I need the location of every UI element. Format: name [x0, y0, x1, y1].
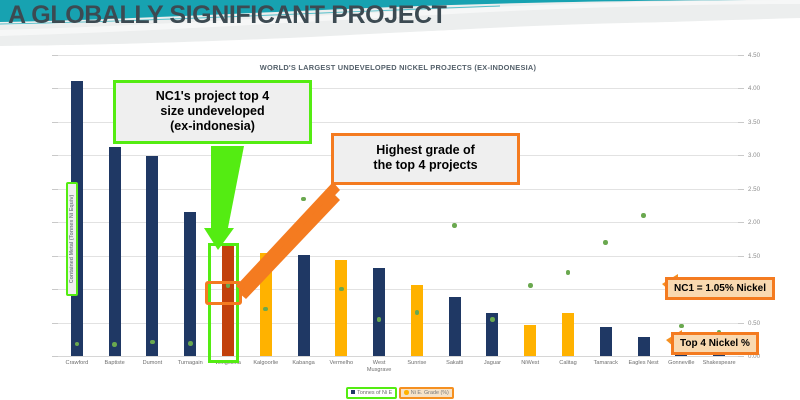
grade-callout-line-1: Highest grade of: [336, 143, 515, 158]
chart-legend: Tonnes of Ni ENi E. Grade (%): [0, 384, 800, 400]
legend-label: Ni E. Grade (%): [411, 390, 449, 396]
y2-tick-label: 2.00: [748, 219, 760, 226]
x-label-sunrise: Sunrise: [398, 360, 436, 367]
grade-dot-tamarack[interactable]: [603, 240, 608, 245]
wingellina-grade-highlight: [205, 281, 242, 305]
slide-canvas: A GLOBALLY SIGNIFICANT PROJECT WORLD'S L…: [0, 0, 800, 400]
bar-niwest[interactable]: [524, 325, 536, 356]
legend-square-icon: [351, 390, 355, 394]
grade-dot-dumont[interactable]: [150, 340, 155, 345]
x-label-tamarack: Tamarack: [587, 360, 625, 367]
y-tick-mark: [52, 155, 58, 156]
gridline: [58, 256, 738, 257]
size-callout-line-2: size undeveloped: [118, 104, 307, 119]
bar-calitag[interactable]: [562, 313, 574, 356]
x-label-eagles-nest: Eagles Nest: [625, 360, 663, 367]
x-label-turnagain: Turnagain: [171, 360, 209, 367]
nc1-grade-tag: NC1 = 1.05% Nickel: [665, 277, 775, 300]
y2-tick-label: 3.50: [748, 119, 760, 126]
page-title: A GLOBALLY SIGNIFICANT PROJECT: [8, 1, 447, 30]
x-label-shakespeare: Shakespeare: [700, 360, 738, 367]
y-tick-mark: [52, 55, 58, 56]
y2-tick-label: 3.00: [748, 152, 760, 159]
grade-callout: Highest grade of the top 4 projects: [331, 133, 520, 185]
x-label-jaguar: Jaguar: [474, 360, 512, 367]
grade-dot-jaguar[interactable]: [490, 317, 495, 322]
y2-tick-label: 1.50: [748, 253, 760, 260]
y2-tick-mark: [738, 222, 744, 223]
size-callout-line-3: (ex-indonesia): [118, 119, 307, 134]
gridline: [58, 289, 738, 290]
x-label-dumont: Dumont: [134, 360, 172, 367]
legend-item-2[interactable]: Ni E. Grade (%): [399, 387, 454, 399]
slide-header: A GLOBALLY SIGNIFICANT PROJECT: [0, 0, 800, 46]
y2-tick-mark: [738, 122, 744, 123]
y-tick-mark: [52, 289, 58, 290]
x-label-sakatti: Sakatti: [436, 360, 474, 367]
y-tick-mark: [52, 323, 58, 324]
grade-dot-baptiste[interactable]: [112, 342, 117, 347]
bar-crawford[interactable]: [71, 81, 83, 356]
bar-kabanga[interactable]: [298, 255, 310, 356]
y2-tick-mark: [738, 55, 744, 56]
grade-dot-turnagain[interactable]: [188, 341, 193, 346]
gridline: [58, 356, 738, 357]
y-tick-mark: [52, 122, 58, 123]
grade-dot-vermelho[interactable]: [339, 287, 344, 292]
y2-tick-label: 4.50: [748, 52, 760, 59]
y2-tick-mark: [738, 356, 744, 357]
bar-sakatti[interactable]: [449, 297, 461, 356]
grade-dot-calitag[interactable]: [566, 270, 571, 275]
gridline: [58, 55, 738, 56]
grade-dot-west-musgrave[interactable]: [377, 317, 382, 322]
grade-dot-sunrise[interactable]: [415, 310, 420, 315]
legend-item-1[interactable]: Tonnes of Ni E: [346, 387, 397, 399]
x-label-niwest: NiWest: [511, 360, 549, 367]
x-label-crawford: Crawford: [58, 360, 96, 367]
top4-nickel-tag: Top 4 Nickel %: [671, 332, 759, 355]
x-label-baptiste: Baptiste: [96, 360, 134, 367]
y2-tick-mark: [738, 189, 744, 190]
x-label-west-musgrave: West Musgrave: [360, 360, 398, 374]
x-label-kabanga: Kabanga: [285, 360, 323, 367]
grade-dot-gonneville[interactable]: [679, 324, 684, 329]
bar-eagles-nest[interactable]: [638, 337, 650, 356]
grade-callout-line-2: the top 4 projects: [336, 158, 515, 173]
grade-dot-niwest[interactable]: [528, 283, 533, 288]
bar-turnagain[interactable]: [184, 212, 196, 356]
y2-tick-label: 0.50: [748, 320, 760, 327]
x-label-gonneville: Gonneville: [662, 360, 700, 367]
y-tick-mark: [52, 222, 58, 223]
size-callout-line-1: NC1's project top 4: [118, 89, 307, 104]
legend-circle-icon: [404, 390, 409, 395]
y2-tick-mark: [738, 155, 744, 156]
bar-baptiste[interactable]: [109, 147, 121, 356]
legend-label: Tonnes of Ni E: [357, 390, 392, 396]
y-tick-mark: [52, 189, 58, 190]
y2-tick-mark: [738, 88, 744, 89]
bar-tamarack[interactable]: [600, 327, 612, 356]
gridline: [58, 323, 738, 324]
y2-tick-mark: [738, 323, 744, 324]
grade-dot-kabanga[interactable]: [301, 197, 306, 202]
bar-vermelho[interactable]: [335, 260, 347, 356]
grade-dot-eagles-nest[interactable]: [641, 213, 646, 218]
grade-dot-sakatti[interactable]: [452, 223, 457, 228]
x-label-kalgoorlie: Kalgoorlie: [247, 360, 285, 367]
y-tick-mark: [52, 256, 58, 257]
x-label-calitag: Calitag: [549, 360, 587, 367]
x-axis-labels: CrawfordBaptisteDumontTurnagainWingellin…: [58, 360, 738, 386]
y-tick-mark: [52, 356, 58, 357]
y2-tick-mark: [738, 256, 744, 257]
bar-west-musgrave[interactable]: [373, 268, 385, 356]
y-tick-mark: [52, 88, 58, 89]
bar-kalgoorlie[interactable]: [260, 253, 272, 356]
y2-tick-label: 2.50: [748, 186, 760, 193]
gridline: [58, 222, 738, 223]
size-callout: NC1's project top 4 size undeveloped (ex…: [113, 80, 312, 144]
gridline: [58, 189, 738, 190]
bar-sunrise[interactable]: [411, 285, 423, 356]
y2-tick-label: 4.00: [748, 85, 760, 92]
bar-dumont[interactable]: [146, 156, 158, 356]
x-label-vermelho: Vermelho: [322, 360, 360, 367]
